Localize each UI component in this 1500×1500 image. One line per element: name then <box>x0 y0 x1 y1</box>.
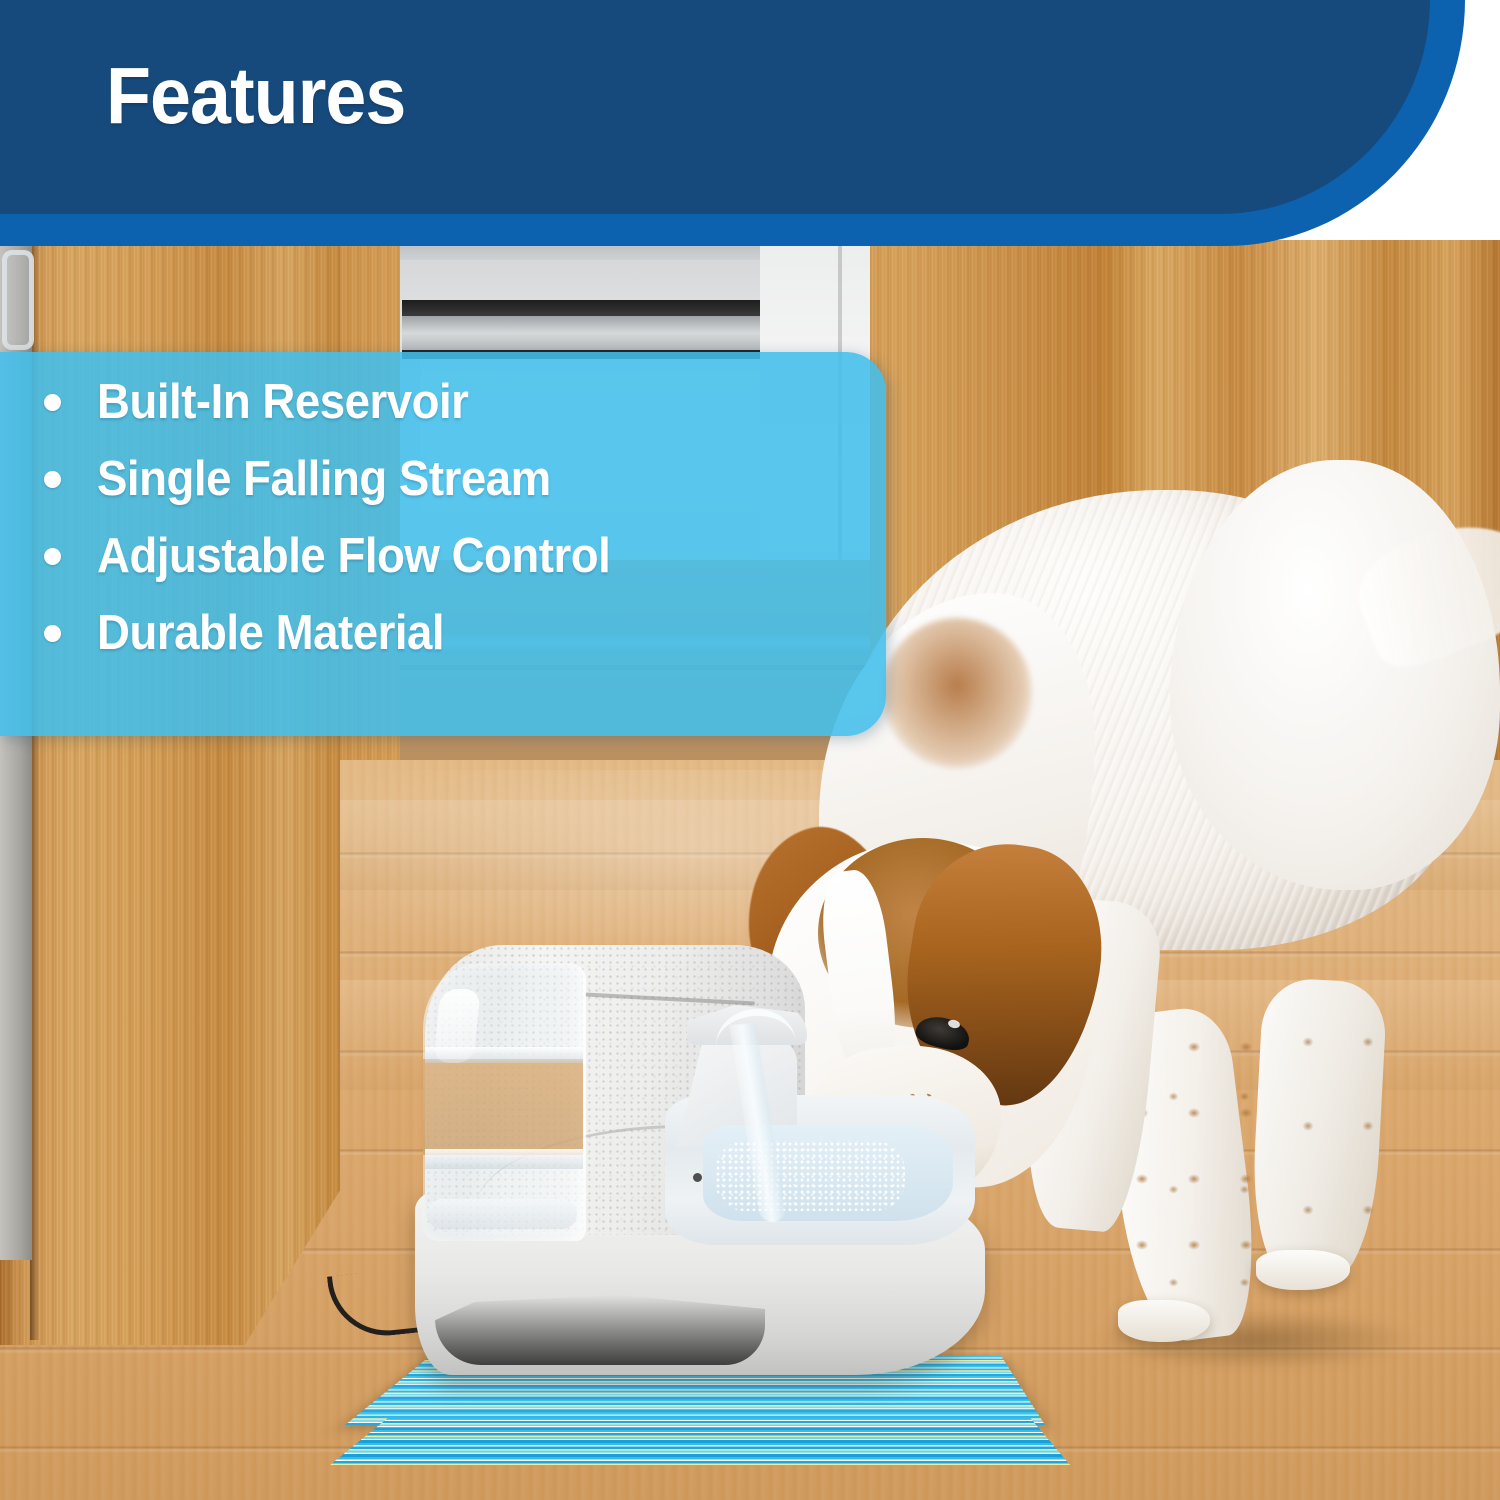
dog-spots <box>1266 990 1386 1250</box>
features-list: Built-In Reservoir Single Falling Stream… <box>0 352 886 658</box>
dog-paw <box>1256 1250 1350 1290</box>
reservoir-rib <box>425 1149 583 1169</box>
feature-label: Single Falling Stream <box>97 455 551 504</box>
cabinet-handle-icon <box>2 250 34 350</box>
reservoir-seen-through <box>423 1059 583 1155</box>
reservoir-rib <box>427 1199 577 1229</box>
feature-label: Built-In Reservoir <box>97 378 468 427</box>
product-feature-image: Features Built-In Reservoir Single Falli… <box>0 0 1500 1500</box>
appliance-handle-band <box>402 300 822 316</box>
bullet-dot-icon <box>44 471 61 488</box>
dog-shoulder-marking <box>882 618 1032 768</box>
fountain-water-foam <box>715 1141 905 1211</box>
features-panel: Built-In Reservoir Single Falling Stream… <box>0 352 886 736</box>
dog-paw <box>1118 1300 1210 1342</box>
feature-label: Adjustable Flow Control <box>97 532 610 581</box>
bullet-dot-icon <box>44 548 61 565</box>
bullet-dot-icon <box>44 625 61 642</box>
page-title: Features <box>106 56 405 136</box>
feature-item-2: Single Falling Stream <box>44 455 886 504</box>
feature-label: Durable Material <box>97 609 444 658</box>
fountain-base-shadow <box>435 1295 765 1365</box>
feature-item-4: Durable Material <box>44 609 886 658</box>
fountain-drain-hole <box>693 1173 702 1182</box>
fountain-reservoir-tank <box>423 963 586 1241</box>
pet-water-fountain <box>415 945 995 1375</box>
feature-item-3: Adjustable Flow Control <box>44 532 886 581</box>
bullet-dot-icon <box>44 394 61 411</box>
appliance-handle-metal <box>402 316 822 350</box>
feature-item-1: Built-In Reservoir <box>44 378 886 427</box>
header-banner: Features <box>0 0 1500 250</box>
